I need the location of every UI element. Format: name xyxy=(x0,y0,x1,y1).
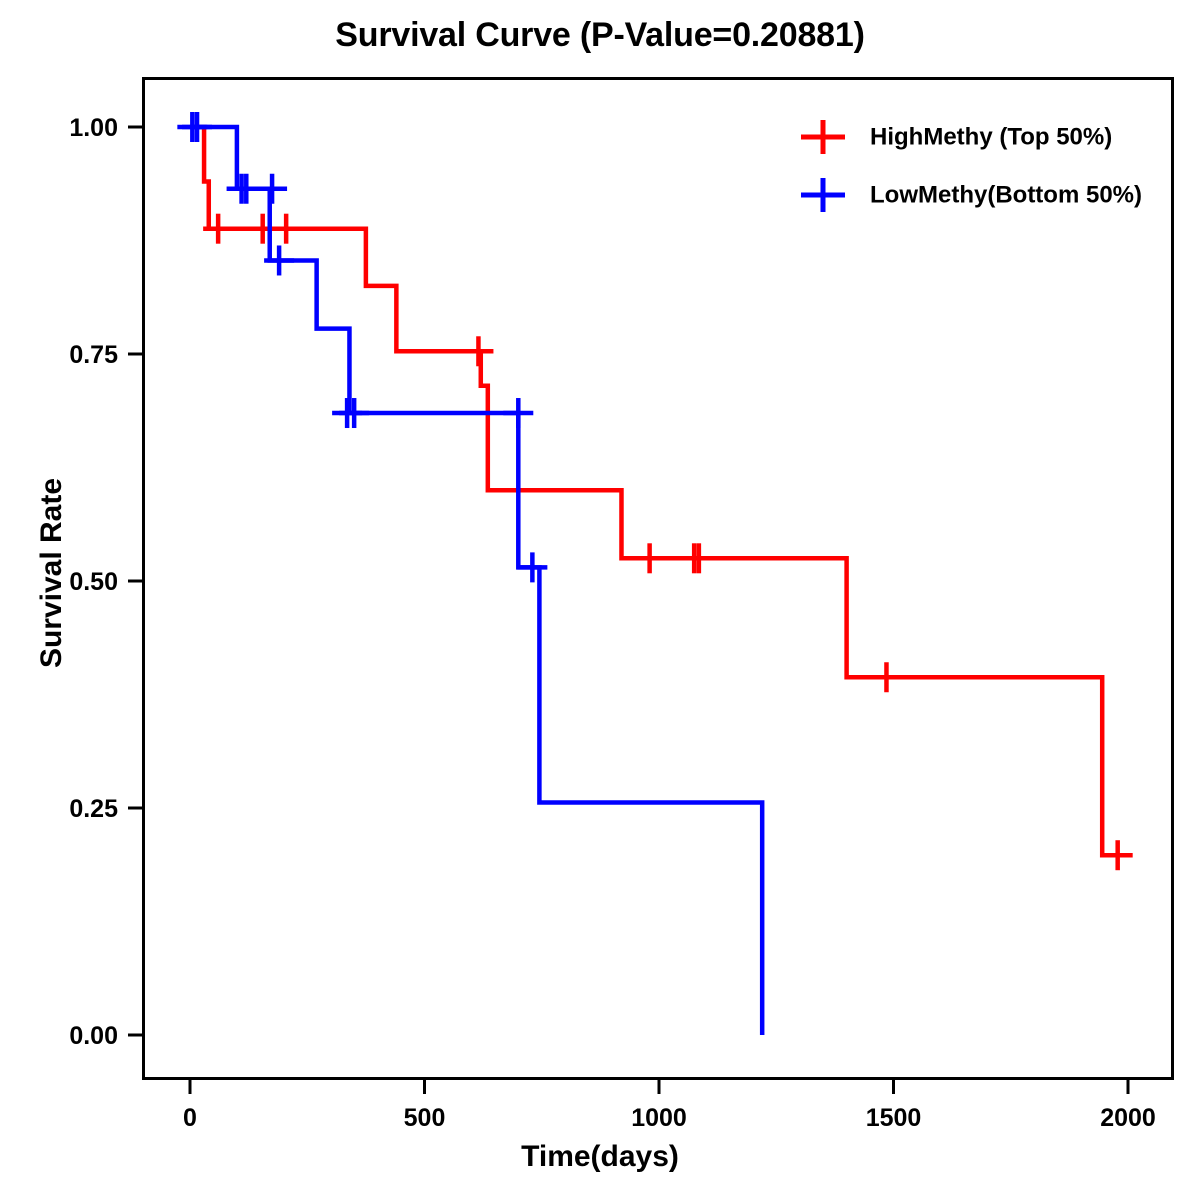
chart-legend: HighMethy (Top 50%)LowMethy(Bottom 50%) xyxy=(801,120,1142,212)
x-tick-label: 2000 xyxy=(1100,1104,1156,1132)
legend-entry[interactable]: LowMethy(Bottom 50%) xyxy=(801,178,1142,212)
x-tick-label: 1500 xyxy=(866,1104,922,1132)
legend-entry[interactable]: HighMethy (Top 50%) xyxy=(801,120,1112,154)
series-low-methy xyxy=(177,112,762,1035)
series-high-methy xyxy=(190,127,1133,870)
x-tick-label: 0 xyxy=(183,1104,197,1132)
y-tick-label: 0.75 xyxy=(69,341,118,369)
step-line xyxy=(190,127,762,1035)
y-tick-label: 0.00 xyxy=(69,1022,118,1050)
y-tick-label: 1.00 xyxy=(69,114,118,142)
x-axis-ticks: 0500100015002000 xyxy=(183,1079,1156,1132)
y-axis-ticks: 0.000.250.500.751.00 xyxy=(69,114,143,1050)
step-line xyxy=(190,127,1123,855)
series-layer xyxy=(177,112,1132,1035)
survival-curve-figure: Survival Curve (P-Value=0.20881) Surviva… xyxy=(0,0,1200,1200)
legend-label: LowMethy(Bottom 50%) xyxy=(870,181,1142,208)
x-tick-label: 500 xyxy=(404,1104,446,1132)
x-tick-label: 1000 xyxy=(631,1104,687,1132)
plot-area: 0.000.250.500.751.00 0500100015002000 Hi… xyxy=(0,0,1200,1200)
y-tick-label: 0.25 xyxy=(69,795,118,823)
legend-label: HighMethy (Top 50%) xyxy=(870,123,1112,150)
y-tick-label: 0.50 xyxy=(69,568,118,596)
